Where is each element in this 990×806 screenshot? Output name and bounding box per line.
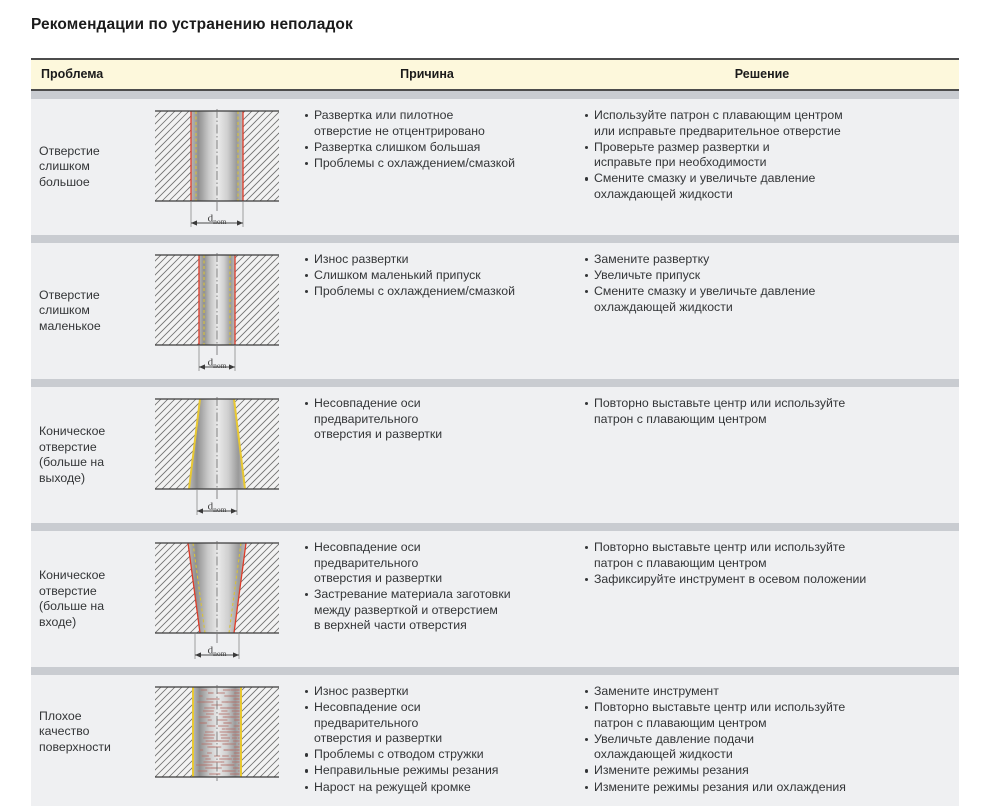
solution-list: Повторно выставьте центр или используйте… — [565, 531, 959, 598]
cell-problem: Коническое отверстие (больше на выходе)d… — [31, 387, 289, 523]
list-item: Проблемы с отводом стружки — [305, 747, 557, 763]
list-item: Проблемы с охлаждением/смазкой — [305, 284, 557, 300]
solution-list: Замените инструментПовторно выставьте це… — [565, 675, 959, 806]
cell-cause: Износ разверткиНесовпадение оси предвари… — [289, 675, 565, 806]
svg-text:dnom: dnom — [208, 501, 227, 515]
svg-text:dnom: dnom — [208, 645, 227, 659]
cell-solution: Повторно выставьте центр или используйте… — [565, 531, 959, 667]
cell-cause: Несовпадение оси предварительного отверс… — [289, 531, 565, 667]
list-item: Измените режимы резания — [585, 763, 951, 779]
problem-label: Отверстие слишком маленькое — [31, 288, 147, 335]
diagram-hole-too-large: dnom — [147, 99, 287, 235]
problem-label: Коническое отверстие (больше на выходе) — [31, 424, 147, 486]
list-item: Зафиксируйте инструмент в осевом положен… — [585, 572, 951, 588]
list-item: Измените режимы резания или охлаждения — [585, 780, 951, 796]
list-item: Повторно выставьте центр или используйте… — [585, 700, 951, 731]
table-header-row: Проблема Причина Решение — [31, 59, 959, 90]
problem-label: Плохое качество поверхности — [31, 709, 147, 756]
cause-list: Развертка или пилотное отверстие не отце… — [289, 99, 565, 182]
table-body: Отверстие слишком большоеdnomРазвертка и… — [31, 90, 959, 806]
cell-problem: Отверстие слишком маленькоеdnom — [31, 243, 289, 379]
row-separator — [31, 379, 959, 387]
list-item: Нарост на режущей кромке — [305, 780, 557, 796]
cause-list: Несовпадение оси предварительного отверс… — [289, 387, 565, 453]
cause-list: Износ разверткиСлишком маленький припуск… — [289, 243, 565, 310]
list-item: Несовпадение оси предварительного отверс… — [305, 700, 557, 747]
list-item: Смените смазку и увеличьте давление охла… — [585, 171, 951, 202]
table-row: Плохое качество поверхностиИзнос разверт… — [31, 675, 959, 806]
list-item: Износ развертки — [305, 252, 557, 268]
solution-list: Повторно выставьте центр или используйте… — [565, 387, 959, 438]
cell-cause: Развертка или пилотное отверстие не отце… — [289, 99, 565, 235]
cell-problem: Плохое качество поверхности — [31, 675, 289, 806]
problem-label: Отверстие слишком большое — [31, 144, 147, 191]
diagram-taper-wider-at-entry: dnom — [147, 531, 287, 667]
troubleshooting-table: Проблема Причина Решение Отверстие слишк… — [31, 58, 959, 806]
solution-list: Замените разверткуУвеличьте припускСмени… — [565, 243, 959, 326]
solution-list: Используйте патрон с плавающим центром и… — [565, 99, 959, 213]
row-separator-band — [31, 379, 959, 387]
list-item: Застревание материала заготовки между ра… — [305, 587, 557, 634]
list-item: Развертка слишком большая — [305, 140, 557, 156]
diagram-taper-wider-at-exit: dnom — [147, 387, 287, 523]
row-separator-band — [31, 667, 959, 675]
problem-label: Коническое отверстие (больше на входе) — [31, 568, 147, 630]
svg-text:dnom: dnom — [208, 357, 227, 371]
cell-solution: Замените инструментПовторно выставьте це… — [565, 675, 959, 806]
row-separator — [31, 90, 959, 99]
cell-problem: Коническое отверстие (больше на входе)dn… — [31, 531, 289, 667]
cell-cause: Износ разверткиСлишком маленький припуск… — [289, 243, 565, 379]
list-item: Несовпадение оси предварительного отверс… — [305, 540, 557, 587]
list-item: Износ развертки — [305, 684, 557, 700]
list-item: Слишком маленький припуск — [305, 268, 557, 284]
list-item: Неправильные режимы резания — [305, 763, 557, 779]
list-item: Проблемы с охлаждением/смазкой — [305, 156, 557, 172]
cell-problem: Отверстие слишком большоеdnom — [31, 99, 289, 235]
diagram-hole-too-small: dnom — [147, 243, 287, 379]
cell-cause: Несовпадение оси предварительного отверс… — [289, 387, 565, 523]
row-separator — [31, 235, 959, 243]
row-separator-band — [31, 235, 959, 243]
list-item: Проверьте размер развертки и исправьте п… — [585, 140, 951, 171]
table-row: Отверстие слишком маленькоеdnomИзнос раз… — [31, 243, 959, 379]
list-item: Повторно выставьте центр или используйте… — [585, 396, 951, 427]
table-row: Коническое отверстие (больше на выходе)d… — [31, 387, 959, 523]
svg-text:dnom: dnom — [208, 213, 227, 227]
cell-solution: Замените разверткуУвеличьте припускСмени… — [565, 243, 959, 379]
list-item: Повторно выставьте центр или используйте… — [585, 540, 951, 571]
list-item: Увеличьте припуск — [585, 268, 951, 284]
row-separator-band — [31, 523, 959, 531]
list-item: Несовпадение оси предварительного отверс… — [305, 396, 557, 443]
list-item: Замените развертку — [585, 252, 951, 268]
cell-solution: Используйте патрон с плавающим центром и… — [565, 99, 959, 235]
page-title: Рекомендации по устранению неполадок — [31, 16, 353, 34]
row-separator-band — [31, 90, 959, 99]
column-header-cause: Причина — [289, 59, 565, 90]
table-row: Отверстие слишком большоеdnomРазвертка и… — [31, 99, 959, 235]
cause-list: Износ разверткиНесовпадение оси предвари… — [289, 675, 565, 806]
list-item: Используйте патрон с плавающим центром и… — [585, 108, 951, 139]
row-separator — [31, 667, 959, 675]
list-item: Замените инструмент — [585, 684, 951, 700]
cell-solution: Повторно выставьте центр или используйте… — [565, 387, 959, 523]
diagram-poor-surface-finish — [147, 675, 287, 789]
column-header-solution: Решение — [565, 59, 959, 90]
troubleshooting-page: Рекомендации по устранению неполадок Про… — [0, 0, 990, 697]
row-separator — [31, 523, 959, 531]
table-row: Коническое отверстие (больше на входе)dn… — [31, 531, 959, 667]
list-item: Развертка или пилотное отверстие не отце… — [305, 108, 557, 139]
cause-list: Несовпадение оси предварительного отверс… — [289, 531, 565, 645]
list-item: Увеличьте давление подачи охлаждающей жи… — [585, 732, 951, 763]
column-header-problem: Проблема — [31, 59, 289, 90]
list-item: Смените смазку и увеличьте давление охла… — [585, 284, 951, 315]
